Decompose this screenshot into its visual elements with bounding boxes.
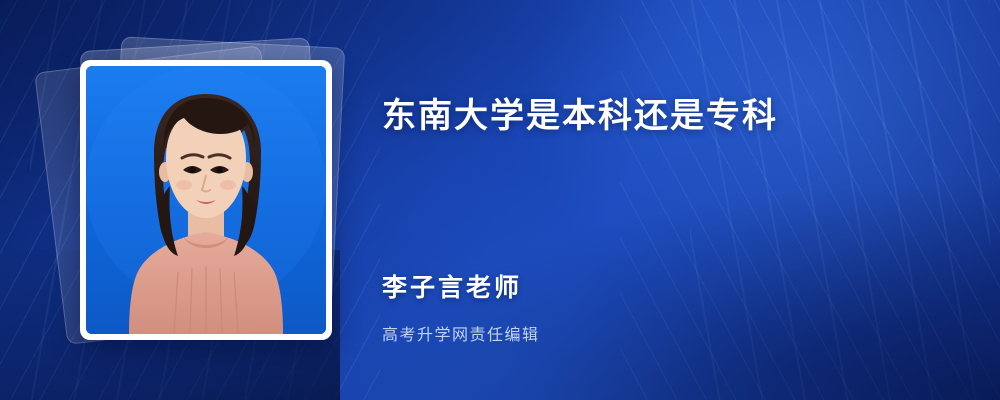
page-title: 东南大学是本科还是专科 — [382, 96, 942, 137]
photo-card-stack — [52, 40, 342, 360]
author-name: 李子言老师 — [382, 272, 942, 305]
author-block: 李子言老师 高考升学网责任编辑 — [382, 272, 942, 345]
portrait-photo — [86, 66, 326, 334]
article-banner: 东南大学是本科还是专科 李子言老师 高考升学网责任编辑 — [0, 0, 1000, 400]
author-role: 高考升学网责任编辑 — [382, 321, 942, 345]
title-block: 东南大学是本科还是专科 — [382, 96, 942, 137]
portrait-illustration — [86, 66, 326, 334]
photo-frame — [80, 60, 332, 340]
